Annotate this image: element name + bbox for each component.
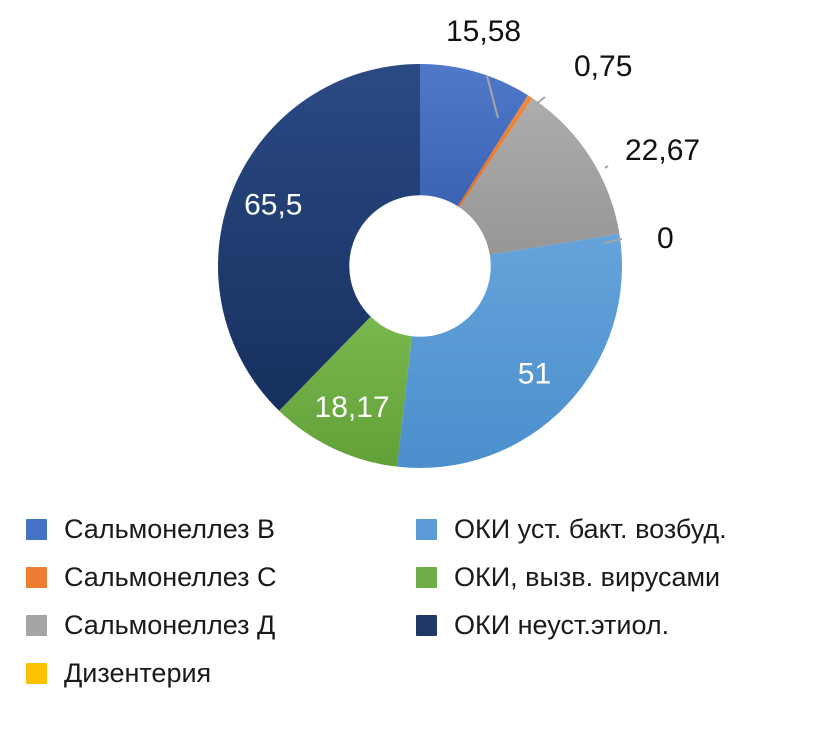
legend-label: ОКИ неуст.этиол. [454, 612, 669, 639]
slice-group [218, 64, 622, 468]
leader-line-salmonellez-s [536, 97, 545, 104]
legend-label: Сальмонеллез В [64, 516, 275, 543]
legend-item[interactable]: ОКИ уст. бакт. возбуд. [416, 505, 816, 553]
leader-line-salmonellez-d [605, 166, 608, 168]
data-label-salmonellez-s: 0,75 [574, 50, 632, 83]
legend-swatch-oki-virus [416, 567, 437, 588]
legend-item[interactable]: ОКИ неуст.этиол. [416, 601, 816, 649]
legend-swatch-salmonellez-v [26, 519, 47, 540]
data-label-salmonellez-v: 15,58 [446, 15, 521, 48]
legend-label: ОКИ уст. бакт. возбуд. [454, 516, 727, 543]
legend-item[interactable]: Сальмонеллез С [26, 553, 416, 601]
data-label-oki-neust: 65,5 [244, 188, 302, 221]
legend-label: Сальмонеллез Д [64, 612, 275, 639]
legend-label: Сальмонеллез С [64, 564, 277, 591]
legend-column-left: Сальмонеллез В Сальмонеллез С Сальмонелл… [26, 505, 416, 755]
legend-item[interactable]: Сальмонеллез В [26, 505, 416, 553]
doughnut-chart: 15,580,7522,6705118,1765,5 Сальмонеллез … [0, 0, 820, 755]
data-label-oki-bakt: 51 [518, 357, 551, 390]
legend-swatch-salmonellez-d [26, 615, 47, 636]
legend-swatch-salmonellez-s [26, 567, 47, 588]
legend-swatch-oki-neust [416, 615, 437, 636]
doughnut-plot-area: 15,580,7522,6705118,1765,5 [0, 0, 820, 500]
legend-item[interactable]: ОКИ, вызв. вирусами [416, 553, 816, 601]
data-label-dizenteriya: 0 [657, 222, 674, 255]
legend-label: Дизентерия [64, 660, 211, 687]
legend-swatch-dizenteriya [26, 663, 47, 684]
legend-column-right: ОКИ уст. бакт. возбуд. ОКИ, вызв. вируса… [416, 505, 816, 755]
doughnut-svg: 15,580,7522,6705118,1765,5 [0, 0, 820, 500]
legend-swatch-oki-bakt [416, 519, 437, 540]
legend-item[interactable]: Сальмонеллез Д [26, 601, 416, 649]
data-label-salmonellez-d: 22,67 [625, 134, 700, 167]
data-label-oki-virus: 18,17 [315, 391, 390, 424]
slice-oki-bakt[interactable] [397, 234, 622, 468]
legend-label: ОКИ, вызв. вирусами [454, 564, 720, 591]
legend-item[interactable]: Дизентерия [26, 649, 416, 697]
chart-legend: Сальмонеллез В Сальмонеллез С Сальмонелл… [0, 505, 820, 755]
